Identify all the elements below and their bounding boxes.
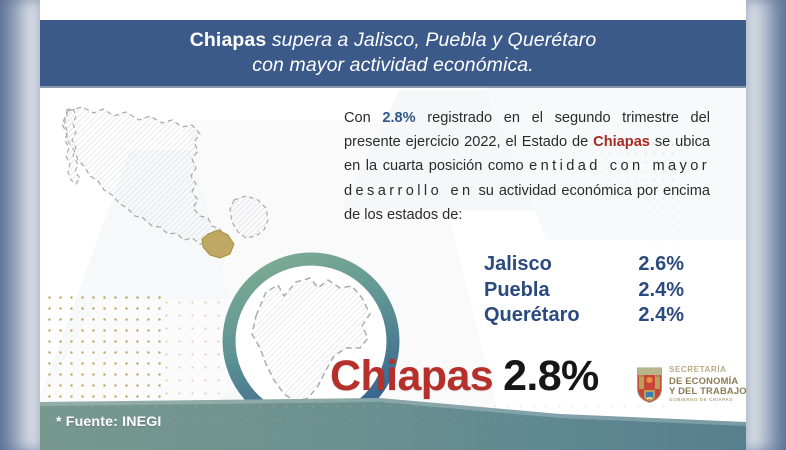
left-edge-gradient <box>0 0 40 450</box>
state-name: Jalisco <box>484 252 552 278</box>
infographic-stage: Chiapas supera a Jalisco, Puebla y Queré… <box>0 0 786 450</box>
logo-subtitle: GOBIERNO DE CHIAPAS <box>669 398 747 403</box>
body-paragraph: Con 2.8% registrado en el segundo trimes… <box>344 106 710 227</box>
state-value: 2.4% <box>638 303 684 329</box>
state-row: Jalisco 2.6% <box>484 252 684 278</box>
state-name: Puebla <box>484 278 550 304</box>
logo-line-3: Y DEL TRABAJO <box>669 386 747 395</box>
header-title: Chiapas supera a Jalisco, Puebla y Queré… <box>40 20 746 86</box>
source-note: * Fuente: INEGI <box>56 414 162 430</box>
government-logo: SECRETARÍA DE ECONOMÍA Y DEL TRABAJO GOB… <box>636 366 747 403</box>
state-value: 2.4% <box>638 278 684 304</box>
logo-line-2: DE ECONOMÍA <box>669 376 747 385</box>
header-bold-word: Chiapas <box>190 29 267 51</box>
gold-dot-grid <box>44 292 162 404</box>
state-name: Querétaro <box>484 303 580 329</box>
right-edge-gradient <box>746 0 786 450</box>
para-part-1: Con <box>344 110 382 126</box>
logo-text: SECRETARÍA DE ECONOMÍA Y DEL TRABAJO GOB… <box>669 366 747 403</box>
states-comparison-list: Jalisco 2.6% Puebla 2.4% Querétaro 2.4% <box>484 252 684 329</box>
header-line1-rest: supera a Jalisco, Puebla y Querétaro <box>266 29 596 51</box>
para-percent-highlight: 2.8% <box>382 110 415 126</box>
mexico-map <box>42 96 332 271</box>
para-state-name: Chiapas <box>593 134 650 150</box>
logo-line-1: SECRETARÍA <box>669 366 747 374</box>
headline-value: 2.8% <box>503 352 599 401</box>
chiapas-coat-of-arms-icon <box>636 366 663 403</box>
state-value: 2.6% <box>638 252 684 278</box>
headline-state-name: Chiapas <box>330 352 493 401</box>
gold-dot-grid-sparse <box>160 296 230 404</box>
state-row: Puebla 2.4% <box>484 278 684 304</box>
headline-result: Chiapas 2.8% <box>330 352 599 401</box>
state-row: Querétaro 2.4% <box>484 303 684 329</box>
header-line2: con mayor actividad económica. <box>252 53 534 78</box>
